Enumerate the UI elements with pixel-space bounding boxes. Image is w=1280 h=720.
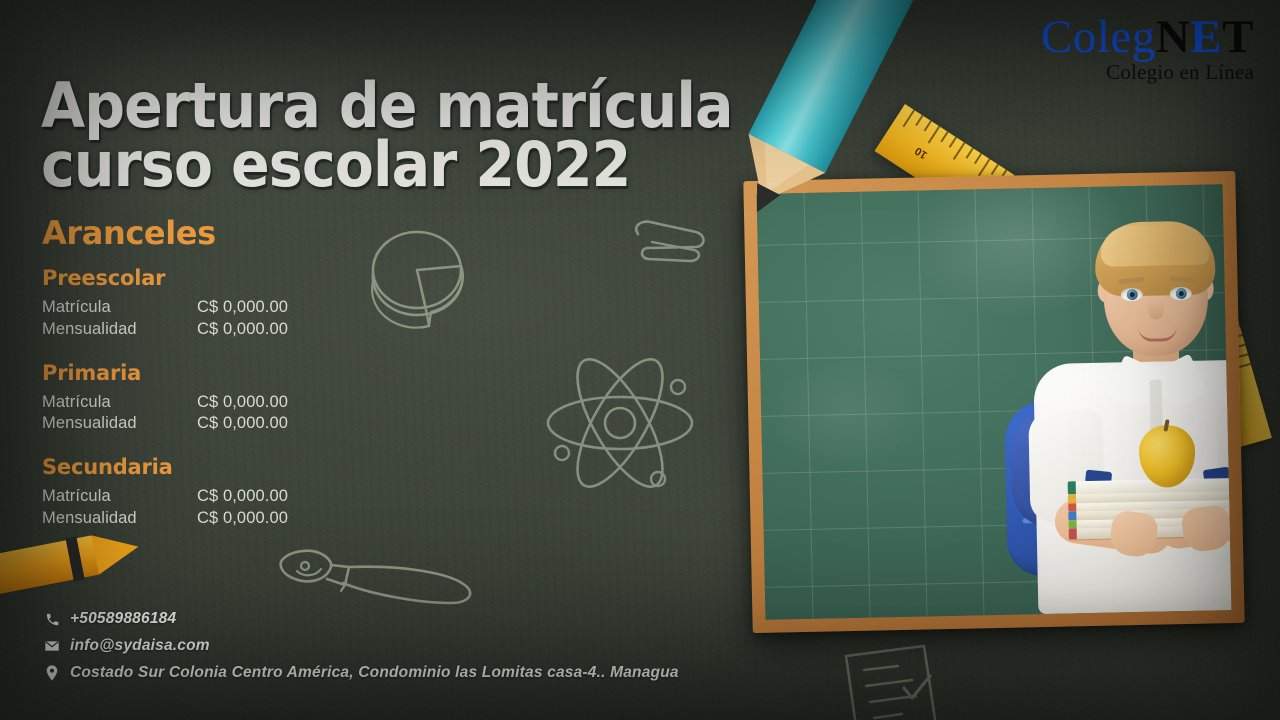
headline-line-1: Apertura de matrícula [41, 76, 713, 136]
headline-line-2: curso escolar 2022 [41, 135, 713, 195]
phone-icon [42, 612, 62, 627]
contact-phone-text: +50589886184 [70, 610, 176, 628]
contact-email-row[interactable]: info@sydaisa.com [42, 637, 802, 655]
fee-row: Mensualidad C$ 0,000.00 [42, 319, 372, 341]
fee-group: Preescolar Matrícula C$ 0,000.00 Mensual… [42, 266, 372, 341]
fee-level-secundaria: Secundaria [42, 455, 372, 479]
logo-part-n: N [1156, 11, 1190, 63]
fee-label: Mensualidad [42, 319, 197, 341]
checklist-doodle-icon [820, 640, 960, 720]
map-pin-icon [42, 665, 62, 681]
poster-canvas: Apertura de matrícula curso escolar 2022… [0, 0, 1280, 720]
fee-label: Matrícula [42, 392, 197, 414]
fee-value: C$ 0,000.00 [197, 392, 288, 414]
crayon-tip [91, 527, 142, 575]
fee-value: C$ 0,000.00 [197, 508, 288, 530]
fees-heading: Aranceles [42, 214, 372, 252]
fee-group: Secundaria Matrícula C$ 0,000.00 Mensual… [42, 455, 372, 530]
contact-address-row[interactable]: Costado Sur Colonia Centro América, Cond… [42, 664, 802, 682]
brand-logo: ColegNET Colegio en Línea [1041, 14, 1254, 85]
page-title: Apertura de matrícula curso escolar 2022 [41, 76, 713, 195]
contact-address-text: Costado Sur Colonia Centro América, Cond… [70, 664, 679, 682]
student-figure [984, 208, 1231, 615]
fee-label: Matrícula [42, 297, 197, 319]
fee-row: Matrícula C$ 0,000.00 [42, 392, 372, 414]
fee-row: Matrícula C$ 0,000.00 [42, 486, 372, 508]
student-pupil-right [1179, 291, 1184, 296]
fee-label: Mensualidad [42, 413, 197, 435]
logo-part-coleg: Coleg [1041, 11, 1156, 63]
atom-doodle-icon [540, 345, 700, 500]
fountain-pen-doodle-icon [275, 535, 485, 615]
ruler-top-mark-10: 10 [913, 144, 930, 161]
student-photo [757, 184, 1232, 620]
fee-label: Matrícula [42, 486, 197, 508]
student-pupil-left [1130, 292, 1135, 297]
contact-block: +50589886184 info@sydaisa.com Costado Su… [42, 610, 802, 682]
fee-value: C$ 0,000.00 [197, 319, 288, 341]
paperclip-doodle-icon [628, 218, 710, 270]
fee-group: Primaria Matrícula C$ 0,000.00 Mensualid… [42, 361, 372, 436]
student-photo-frame [743, 171, 1244, 633]
logo-tagline: Colegio en Línea [1041, 60, 1254, 85]
fees-section: Aranceles Preescolar Matrícula C$ 0,000.… [42, 214, 372, 530]
logo-part-t: T [1222, 11, 1254, 63]
logo-part-e: E [1190, 11, 1222, 63]
fee-value: C$ 0,000.00 [197, 486, 288, 508]
student-hair-highlight [1100, 224, 1209, 266]
fee-row: Matrícula C$ 0,000.00 [42, 297, 372, 319]
envelope-icon [42, 638, 62, 654]
fee-value: C$ 0,000.00 [197, 297, 288, 319]
fee-row: Mensualidad C$ 0,000.00 [42, 413, 372, 435]
fee-value: C$ 0,000.00 [197, 413, 288, 435]
contact-phone-row[interactable]: +50589886184 [42, 610, 802, 628]
fee-level-preescolar: Preescolar [42, 266, 372, 290]
pie-chart-doodle-icon [365, 222, 480, 332]
fee-level-primaria: Primaria [42, 361, 372, 385]
logo-wordmark: ColegNET [1041, 14, 1254, 62]
contact-email-text: info@sydaisa.com [70, 637, 210, 655]
